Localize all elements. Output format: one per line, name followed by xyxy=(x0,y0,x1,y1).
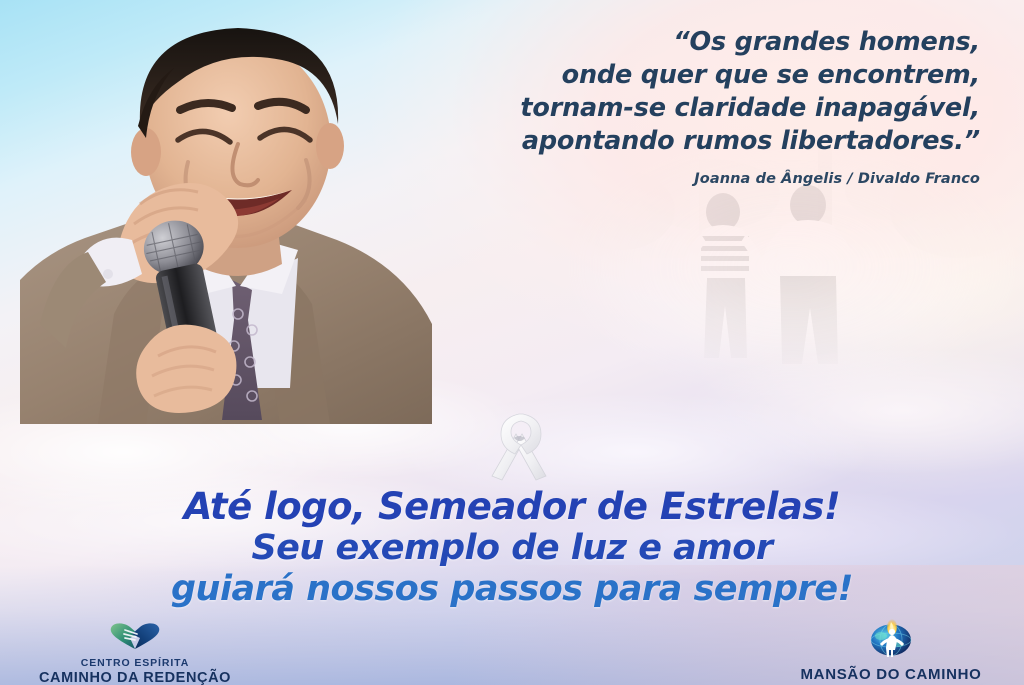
quote-line-3: tornam-se claridade inapagável, xyxy=(420,92,980,125)
headline-line-1: Até logo, Semeador de Estrelas! xyxy=(0,486,1024,528)
centro-espirita-label-line2: CAMINHO DA REDENÇÃO xyxy=(10,670,260,685)
portrait-photo xyxy=(20,0,450,424)
quote-attribution: Joanna de Ângelis / Divaldo Franco xyxy=(420,171,980,187)
faded-background-photo xyxy=(560,150,1024,410)
headline-line-2: Seu exemplo de luz e amor xyxy=(0,528,1024,569)
centro-espirita-logo: CENTRO ESPÍRITA CAMINHO DA REDENÇÃO xyxy=(10,622,260,685)
quote-line-4: apontando rumos libertadores.” xyxy=(420,125,980,158)
quote-block: “Os grandes homens, onde quer que se enc… xyxy=(420,26,980,187)
headline-line-3: guiará nossos passos para sempre! xyxy=(0,569,1024,610)
headline-block: Até logo, Semeador de Estrelas! Seu exem… xyxy=(0,486,1024,610)
memorial-card: “Os grandes homens, onde quer que se enc… xyxy=(0,0,1024,685)
mansao-do-caminho-label: MANSÃO DO CAMINHO xyxy=(766,666,1016,684)
heart-hands-icon xyxy=(10,622,260,655)
globe-figure-icon xyxy=(766,618,1016,663)
quote-line-2: onde quer que se encontrem, xyxy=(420,59,980,92)
quote-line-1: “Os grandes homens, xyxy=(420,26,980,59)
centro-espirita-label-line1: CENTRO ESPÍRITA xyxy=(10,657,260,670)
mansao-do-caminho-logo: MANSÃO DO CAMINHO xyxy=(766,618,1016,684)
white-mourning-ribbon-icon xyxy=(486,408,552,484)
